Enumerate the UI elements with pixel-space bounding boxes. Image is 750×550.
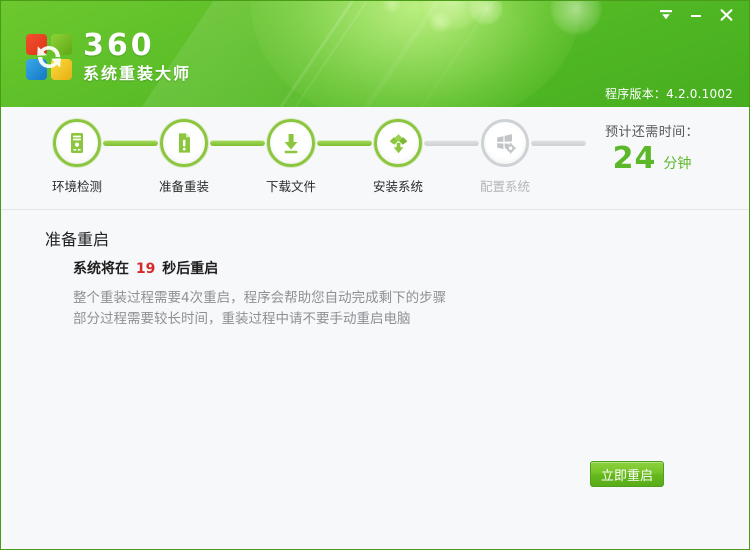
- step-label: 安装系统: [373, 176, 423, 195]
- header-streak: [206, 1, 393, 107]
- header-streak: [356, 1, 559, 107]
- header-bokeh: [421, 1, 485, 31]
- minimize-button[interactable]: [681, 4, 711, 26]
- page-title: 准备重启: [45, 226, 109, 250]
- computer-tower-icon: [64, 130, 90, 156]
- time-estimate-unit: 分钟: [663, 153, 691, 173]
- step-connector: [424, 140, 479, 146]
- window-controls: [651, 4, 741, 26]
- step-item-configure-system[interactable]: 配置系统: [479, 119, 531, 195]
- progress-stepper: 环境检测 准备重装: [1, 107, 749, 209]
- header-bokeh: [550, 1, 602, 35]
- time-estimate-value: 24: [613, 144, 657, 174]
- title-bar: 360 系统重装大师 程序版本：4.2.0.1002: [1, 1, 749, 107]
- step-connector: [317, 140, 372, 146]
- 360-logo-icon: [26, 34, 72, 80]
- step-circle: [267, 119, 315, 167]
- step-circle: [374, 119, 422, 167]
- step-circle: [53, 119, 101, 167]
- install-package-icon: [385, 130, 412, 157]
- countdown-message: 系统将在 19 秒后重启: [73, 258, 218, 278]
- close-button[interactable]: [711, 4, 741, 26]
- main-content: 准备重启 系统将在 19 秒后重启 整个重装过程需要4次重启，程序会帮助您自动完…: [1, 210, 749, 549]
- menu-button[interactable]: [651, 4, 681, 26]
- step-label: 配置系统: [480, 176, 530, 195]
- time-estimate-value-row: 24 分钟: [577, 144, 727, 174]
- header-streak: [223, 1, 415, 107]
- logo-refresh-arrow-icon: [29, 37, 69, 77]
- step-item-prepare-reinstall[interactable]: 准备重装: [158, 119, 210, 195]
- step-circle: [160, 119, 208, 167]
- description-line: 整个重装过程需要4次重启，程序会帮助您自动完成剩下的步骤: [73, 288, 446, 309]
- app-logo: 360 系统重装大师: [26, 31, 191, 82]
- restart-now-button[interactable]: 立即重启: [590, 461, 664, 487]
- version-label: 程序版本：4.2.0.1002: [605, 85, 733, 102]
- time-estimate: 预计还需时间： 24 分钟: [577, 121, 727, 174]
- app-window: 360 系统重装大师 程序版本：4.2.0.1002: [0, 0, 750, 550]
- header-bokeh: [429, 11, 451, 33]
- description-block: 整个重装过程需要4次重启，程序会帮助您自动完成剩下的步骤 部分过程需要较长时间，…: [73, 288, 446, 330]
- step-circle: [481, 119, 529, 167]
- countdown-prefix: 系统将在: [73, 261, 129, 277]
- step-label: 准备重装: [159, 176, 209, 195]
- logo-subtitle: 系统重装大师: [83, 66, 191, 82]
- step-connector: [103, 140, 158, 146]
- header-glow: [251, 1, 581, 107]
- countdown-suffix: 秒后重启: [162, 261, 218, 277]
- header-bokeh: [469, 1, 503, 25]
- step-item-environment-check[interactable]: 环境检测: [51, 119, 103, 195]
- step-label: 环境检测: [52, 176, 102, 195]
- step-item-install-system[interactable]: 安装系统: [372, 119, 424, 195]
- step-item-download-files[interactable]: 下载文件: [265, 119, 317, 195]
- step-label: 下载文件: [266, 176, 316, 195]
- header-bokeh: [383, 1, 401, 13]
- windows-gear-icon: [492, 130, 518, 156]
- header-streak: [297, 1, 497, 107]
- document-alert-icon: [171, 130, 197, 156]
- countdown-seconds: 19: [134, 261, 157, 277]
- step-list: 环境检测 准备重装: [51, 119, 586, 195]
- description-line: 部分过程需要较长时间，重装过程中请不要手动重启电脑: [73, 309, 446, 330]
- step-connector: [210, 140, 265, 146]
- logo-title: 360: [83, 31, 191, 61]
- download-arrow-icon: [278, 130, 304, 156]
- time-estimate-label: 预计还需时间：: [577, 121, 727, 140]
